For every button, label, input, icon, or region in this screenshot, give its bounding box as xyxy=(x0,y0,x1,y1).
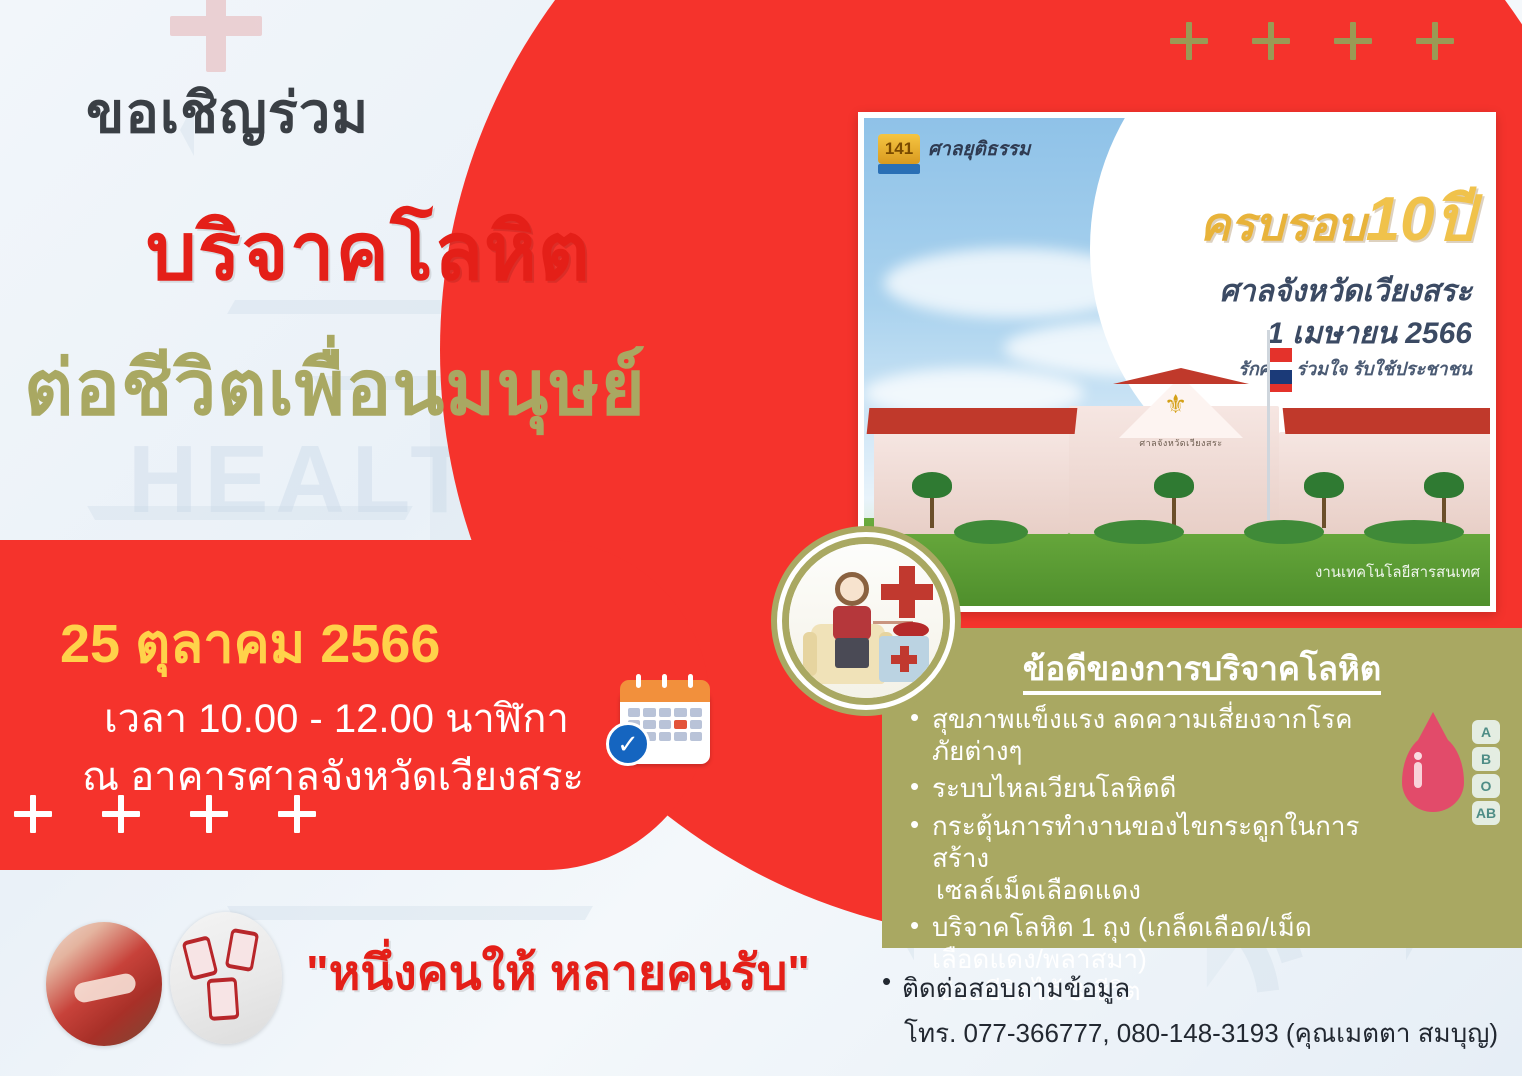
list-item: สุขภาพแข็งแรง ลดความเสี่ยงจากโรคภัยต่างๆ xyxy=(906,704,1362,767)
palm-tree xyxy=(912,472,952,528)
banner-date: 1 เมษายน 2566 xyxy=(1267,310,1472,357)
blood-donation-poster: HEALTH ขอเชิญร่วม บริจาคโลหิต ต่อชีวิตเพ… xyxy=(0,0,1522,1076)
logo-mark-bar xyxy=(878,164,920,174)
palm-tree xyxy=(1424,472,1464,528)
plus-icon xyxy=(1416,22,1454,60)
thai-flag xyxy=(1270,348,1292,392)
plus-icon xyxy=(1252,22,1290,60)
donor-head xyxy=(835,572,869,606)
anniversary-prefix: ครบรอบ xyxy=(1199,198,1365,250)
medical-kit-icon xyxy=(879,636,929,682)
badge-background xyxy=(789,544,943,698)
shrub xyxy=(954,520,1028,544)
contact-phones[interactable]: โทร. 077-366777, 080-148-3193 (คุณเมตตา … xyxy=(878,1013,1518,1054)
logo-label: ศาลยุติธรรม xyxy=(928,134,1030,164)
anniversary-photo-card: 141 ศาลยุติธรรม ครบรอบ10ปี ศาลจังหวัดเวี… xyxy=(858,112,1496,612)
blood-type-list: A B O AB xyxy=(1472,720,1500,825)
photo-watermark: งานเทคโนโลยีสารสนเทศ xyxy=(1315,560,1480,584)
plus-icon xyxy=(278,795,316,833)
roof-left xyxy=(867,408,1078,434)
plus-icon xyxy=(102,795,140,833)
palm-tree xyxy=(1154,472,1194,528)
blood-bag-icon xyxy=(182,935,219,981)
medical-cross-watermark-icon xyxy=(170,0,262,72)
plus-icon xyxy=(1334,22,1372,60)
calendar-ring xyxy=(688,674,693,688)
plus-decoration-row-top xyxy=(1170,22,1454,60)
plus-icon xyxy=(1170,22,1208,60)
blood-type-badge: B xyxy=(1472,747,1500,771)
blood-bag-icon xyxy=(225,928,260,972)
garuda-emblem-icon: ⚜ xyxy=(1164,389,1187,420)
plus-decoration-row-panel xyxy=(14,795,316,833)
contact-block: ติดต่อสอบถามข้อมูล โทร. 077-366777, 080-… xyxy=(878,968,1518,1054)
benefit-text: สุขภาพแข็งแรง ลดความเสี่ยงจากโรคภัยต่างๆ xyxy=(932,704,1353,766)
bag-label xyxy=(228,932,255,967)
blood-bags-photo-thumbnail xyxy=(170,912,282,1044)
blood-type-badge: AB xyxy=(1472,801,1500,825)
roof-right xyxy=(1283,408,1496,434)
calendar-icon: ✓ xyxy=(620,680,710,766)
red-cross-icon xyxy=(881,566,933,618)
slogan-text: "หนึ่งคนให้ หลายคนรับ" xyxy=(306,935,810,1011)
shrub xyxy=(1244,520,1324,544)
benefits-title: ข้อดีของการบริจาคโลหิต xyxy=(882,642,1522,695)
benefits-title-text: ข้อดีของการบริจาคโลหิต xyxy=(1023,650,1381,695)
plus-icon xyxy=(14,795,52,833)
bag-label xyxy=(210,981,236,1017)
benefit-text: บริจาคโลหิต 1 ถุง (เกล็ดเลือด/เม็ดเลือดแ… xyxy=(932,912,1312,974)
donation-photo-thumbnail xyxy=(46,922,162,1046)
blood-types-group: A B O AB xyxy=(1402,720,1500,825)
benefit-text-continued: เซลล์เม็ดเลือดแดง xyxy=(932,875,1362,907)
anniversary-headline: ครบรอบ10ปี xyxy=(1199,170,1474,268)
main-heading: บริจาคโลหิต xyxy=(146,188,591,315)
benefit-text: ระบบไหลเวียนโลหิตดี xyxy=(932,773,1176,803)
drop-highlight xyxy=(1414,762,1422,788)
palm-tree xyxy=(1304,472,1344,528)
anniversary-unit: ปี xyxy=(1435,185,1474,254)
invite-heading: ขอเชิญร่วม xyxy=(86,68,369,157)
calendar-ring xyxy=(662,674,667,688)
event-date: 25 ตุลาคม 2566 xyxy=(60,600,440,686)
calendar-ring xyxy=(636,674,641,688)
benefit-text: กระตุ้นการทำงานของไขกระดูกในการสร้าง xyxy=(932,811,1359,873)
portico-roof xyxy=(1113,368,1249,384)
building-wing-left xyxy=(874,432,1069,534)
blood-bag-icon xyxy=(207,977,240,1021)
kit-cross-icon xyxy=(891,646,917,672)
court-logo: 141 ศาลยุติธรรม xyxy=(878,134,1030,164)
blood-donor-badge-icon xyxy=(782,537,950,705)
bag-label xyxy=(185,940,214,976)
contact-label: ติดต่อสอบถามข้อมูล xyxy=(878,968,1518,1009)
blood-type-badge: A xyxy=(1472,720,1500,744)
blood-type-badge: O xyxy=(1472,774,1500,798)
drop-highlight xyxy=(1414,752,1422,760)
blood-drop-icon xyxy=(1402,734,1464,812)
benefits-panel: ข้อดีของการบริจาคโลหิต สุขภาพแข็งแรง ลดค… xyxy=(882,628,1522,948)
shrub xyxy=(1094,520,1184,544)
calendar-check-icon: ✓ xyxy=(606,722,650,766)
event-time: เวลา 10.00 - 12.00 นาฬิกา xyxy=(104,686,569,750)
shrub xyxy=(1364,520,1464,544)
plus-icon xyxy=(190,795,228,833)
list-item: ระบบไหลเวียนโลหิตดี xyxy=(906,773,1362,805)
donor-body xyxy=(833,606,871,640)
sub-heading: ต่อชีวิตเพื่อนมนุษย์ xyxy=(24,328,646,448)
anniversary-number: 10 xyxy=(1366,185,1435,254)
list-item: กระตุ้นการทำงานของไขกระดูกในการสร้าง เซล… xyxy=(906,811,1362,906)
logo-mark: 141 xyxy=(878,134,920,164)
courthouse-building-illustration: ⚜ ศาลจังหวัดเวียงสระ งานเทคโนโลยีสารสนเท… xyxy=(864,356,1490,606)
banner-court-name: ศาลจังหวัดเวียงสระ xyxy=(1220,268,1472,315)
building-sign-text: ศาลจังหวัดเวียงสระ xyxy=(1116,436,1246,450)
donor-legs xyxy=(835,638,869,668)
